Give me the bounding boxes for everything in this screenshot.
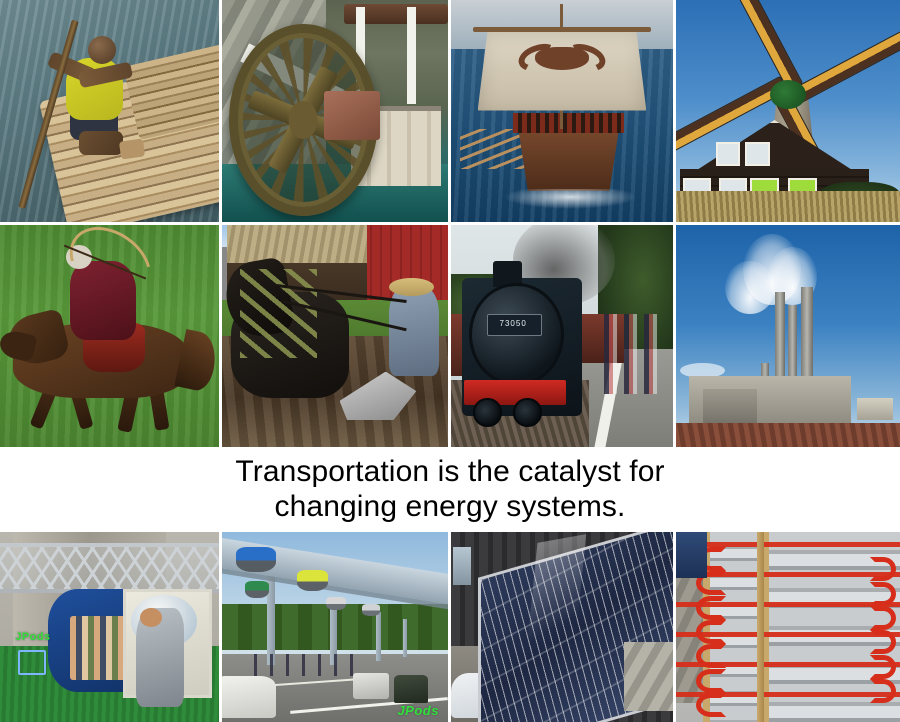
- photo-tile-plow-horse: [222, 225, 448, 447]
- locomotive-wheel-1: [473, 398, 501, 426]
- ship-wake: [504, 189, 637, 209]
- red-desert-ground: [676, 423, 900, 447]
- caption-band: Transportation is the catalyst for chang…: [0, 447, 900, 530]
- scene-sailing-ship: [451, 0, 673, 222]
- aluminum-truss-guideway: [0, 543, 219, 593]
- woman-face: [140, 608, 162, 627]
- bull-horn-left: [515, 39, 562, 76]
- scene-mounted-archer: [0, 225, 219, 447]
- locomotive-wheel-2: [513, 398, 541, 426]
- house-window-1: [716, 142, 740, 166]
- photo-tile-radiant-panels: [676, 532, 900, 722]
- guideway-pod-yellow: [297, 570, 329, 591]
- photo-tile-steam-locomotive: 73050: [451, 225, 673, 447]
- scene-solar-panels: [451, 532, 673, 722]
- scene-steam-locomotive: 73050: [451, 225, 673, 447]
- photo-tile-sailing-ship: [451, 0, 673, 222]
- plant-boiler-house: [703, 389, 757, 425]
- rafter-foot: [119, 138, 145, 159]
- scene-raft: [0, 0, 219, 222]
- guideway-pod-green: [245, 581, 270, 598]
- bull-horn-right: [562, 39, 609, 76]
- caption-line-2: changing energy systems.: [275, 489, 626, 524]
- building-window: [453, 547, 471, 585]
- jpods-cabin-logo: JPods: [15, 631, 50, 643]
- platform-crowd: [604, 314, 662, 394]
- ship-sail: [478, 29, 647, 118]
- photo-tile-jpods-guideway: JPods: [222, 532, 448, 722]
- photo-tile-mounted-archer: [0, 225, 219, 447]
- photo-tile-windmill: [676, 0, 900, 222]
- windmill-cap: [770, 80, 806, 109]
- ship-hull: [518, 124, 620, 191]
- photo-tile-solar-panels: [451, 532, 673, 722]
- blue-bin: [676, 532, 707, 578]
- scene-plow-horse: [222, 225, 448, 447]
- pedestrians-and-cyclists: [254, 654, 362, 677]
- guideway-column-3: [376, 612, 381, 661]
- scene-jpods-guideway: JPods: [222, 532, 448, 722]
- sail-yard: [473, 27, 651, 33]
- plant-outbuilding: [857, 398, 893, 420]
- panel-mounting-frame: [624, 642, 673, 710]
- guideway-pod-blue: [236, 547, 277, 572]
- scene-radiant-panels: [676, 532, 900, 722]
- photo-tile-raft: [0, 0, 219, 222]
- tubing-bends-right: [880, 540, 896, 715]
- scene-windmill: [676, 0, 900, 222]
- wheel-hub: [289, 101, 318, 139]
- wheel-gearbox: [324, 91, 381, 140]
- windmill-reeds: [676, 191, 900, 222]
- scene-jpods-pod: JPods: [0, 532, 219, 722]
- photo-tile-power-plant: [676, 225, 900, 447]
- caption-line-1: Transportation is the catalyst for: [235, 454, 664, 489]
- green-suv: [394, 675, 428, 704]
- photo-tile-jpods-pod: JPods: [0, 532, 219, 722]
- jpods-triangle-icon: [18, 650, 46, 675]
- horse-harness: [240, 269, 317, 358]
- scene-power-plant: [676, 225, 900, 447]
- ship-crew: [513, 113, 624, 133]
- poster-collage: 73050 Transportation is the catalyst for…: [0, 0, 900, 722]
- rafter-head: [88, 36, 116, 65]
- thatch-roof: [227, 225, 367, 263]
- pickup-truck: [353, 673, 389, 700]
- wood-stud-center: [757, 532, 765, 722]
- guideway-pod-far-2: [362, 604, 380, 615]
- jpods-watermark: JPods: [397, 703, 439, 718]
- locomotive-number: 73050: [487, 314, 540, 334]
- house-window-2: [745, 142, 769, 166]
- white-car: [222, 676, 276, 718]
- rafter-leg: [79, 131, 123, 155]
- guideway-pod-far-1: [326, 597, 346, 610]
- photo-tile-water-wheel: [222, 0, 448, 222]
- guideway-column-4: [403, 619, 407, 657]
- scene-water-wheel: [222, 0, 448, 222]
